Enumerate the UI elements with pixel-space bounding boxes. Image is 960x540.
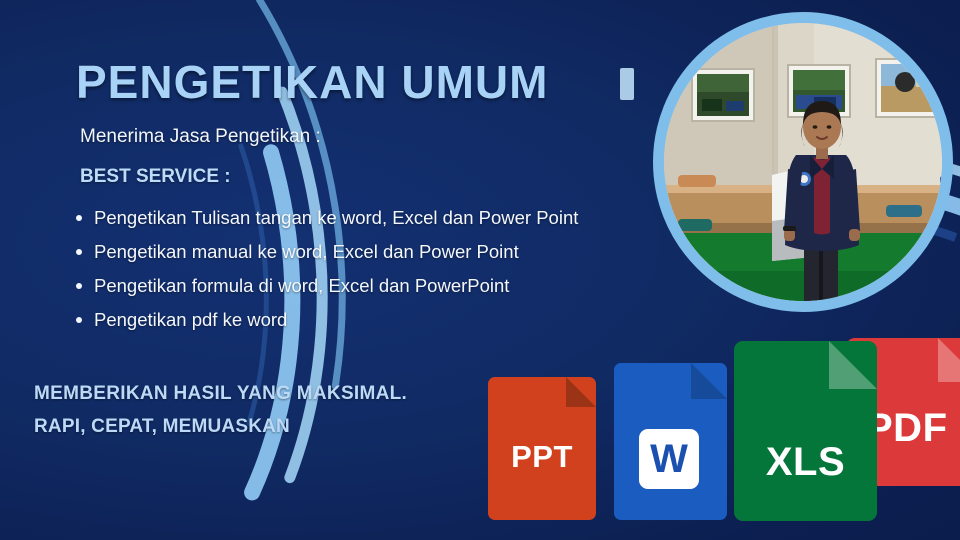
- subtitle: Menerima Jasa Pengetikan :: [80, 126, 321, 148]
- pdf-label: PDF: [866, 406, 960, 451]
- word-glyph-box: W: [639, 429, 699, 489]
- tagline-line-2: RAPI, CEPAT, MEMUASKAN: [34, 410, 407, 443]
- list-item: Pengetikan formula di word, Excel dan Po…: [94, 270, 654, 302]
- tagline-line-1: MEMBERIKAN HASIL YANG MAKSIMAL.: [34, 377, 407, 410]
- page-title: PENGETIKAN UMUM: [76, 55, 548, 109]
- portrait-photo-illustration: [664, 23, 942, 301]
- word-file-icon[interactable]: W: [614, 363, 727, 520]
- list-item: Pengetikan Tulisan tangan ke word, Excel…: [94, 202, 654, 234]
- word-label: W: [639, 436, 699, 482]
- xls-file-icon[interactable]: XLS: [734, 341, 877, 521]
- xls-label: XLS: [734, 440, 877, 485]
- ppt-file-icon[interactable]: PPT: [488, 377, 596, 520]
- ppt-label: PPT: [488, 439, 596, 475]
- tagline: MEMBERIKAN HASIL YANG MAKSIMAL. RAPI, CE…: [34, 377, 407, 443]
- list-item: Pengetikan pdf ke word: [94, 304, 654, 336]
- slide-canvas: PENGETIKAN UMUM Menerima Jasa Pengetikan…: [0, 0, 960, 540]
- list-item: Pengetikan manual ke word, Excel dan Pow…: [94, 236, 654, 268]
- service-list: Pengetikan Tulisan tangan ke word, Excel…: [68, 202, 654, 338]
- section-heading: BEST SERVICE :: [80, 166, 231, 188]
